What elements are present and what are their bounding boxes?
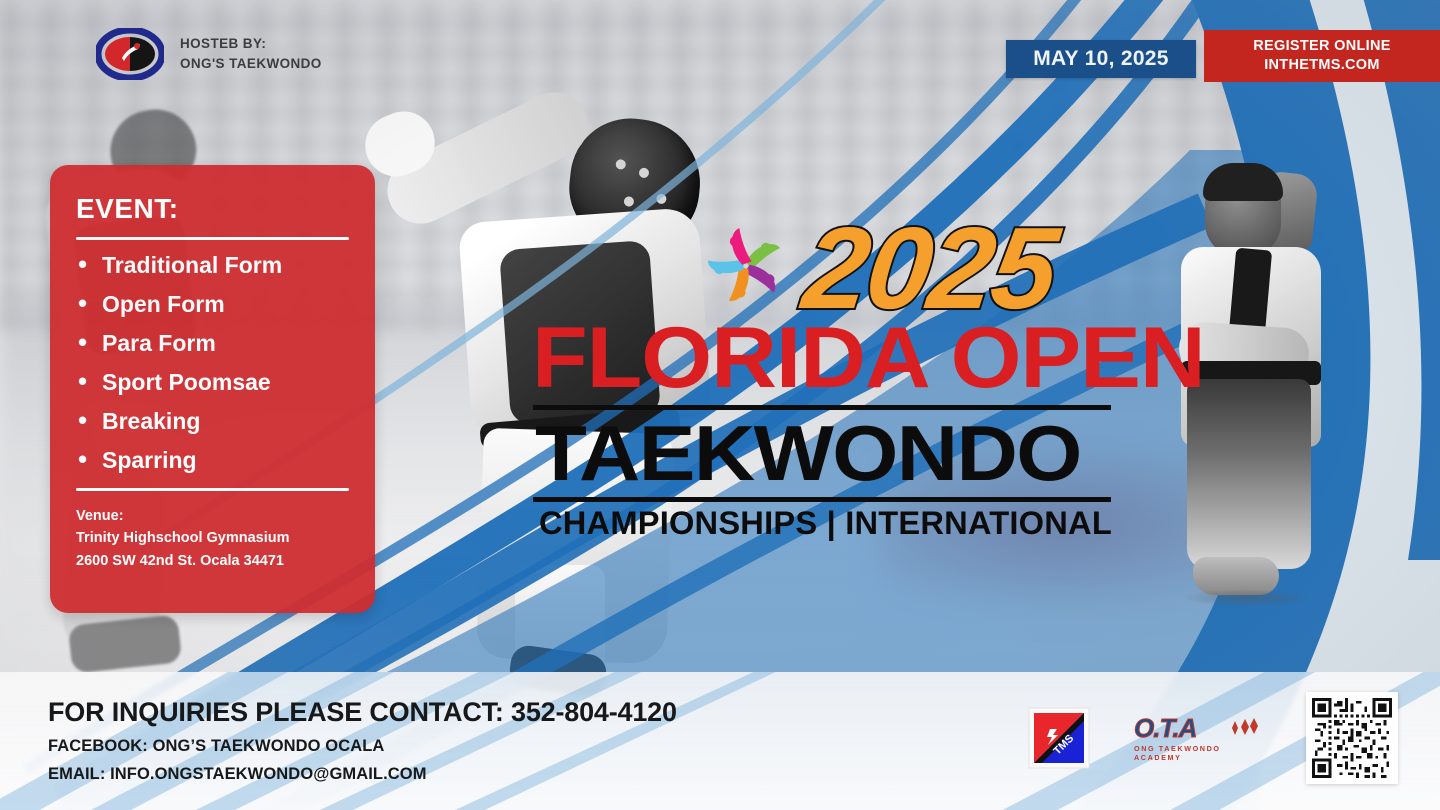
title-line-taekwondo: TAEKWONDO xyxy=(535,411,1081,495)
register-online-badge[interactable]: REGISTER ONLINE INTHETMS.COM xyxy=(1204,30,1440,82)
title-line-florida-open: FLORIDA OPEN xyxy=(532,315,1205,401)
list-item: Sport Poomsae xyxy=(76,371,349,394)
contact-phone-line: FOR INQUIRIES PLEASE CONTACT: 352-804-41… xyxy=(48,697,677,728)
venue-block: Venue: Trinity Highschool Gymnasium 2600… xyxy=(76,505,349,572)
register-line-2: INTHETMS.COM xyxy=(1264,56,1380,75)
contact-block: FOR INQUIRIES PLEASE CONTACT: 352-804-41… xyxy=(48,697,677,784)
list-item: Breaking xyxy=(76,410,349,433)
list-item: Open Form xyxy=(76,293,349,316)
title-line-championships: CHAMPIONSHIPS | INTERNATIONAL xyxy=(539,505,1112,542)
event-date-badge: MAY 10, 2025 xyxy=(1006,40,1196,78)
ong-taekwondo-circle-logo-icon xyxy=(96,28,164,80)
list-item: Para Form xyxy=(76,332,349,355)
ota-logo: O.T.A ONG TAEKWONDO ACADEMY xyxy=(1134,715,1262,761)
host-name: ONG'S TAEKWONDO xyxy=(180,54,322,74)
footer-logos: TMS O.T.A ONG TAEKWONDO ACADEMY xyxy=(1028,692,1398,784)
tms-logo-icon: TMS xyxy=(1028,707,1090,769)
venue-name: Trinity Highschool Gymnasium xyxy=(76,527,349,549)
contact-facebook-line: FACEBOOK: ONG’S TAEKWONDO OCALA xyxy=(48,737,677,756)
event-poster: HOSTEB BY: ONG'S TAEKWONDO MAY 10, 2025 … xyxy=(0,0,1440,810)
venue-label: Venue: xyxy=(76,505,349,527)
host-text: HOSTEB BY: ONG'S TAEKWONDO xyxy=(180,34,322,73)
event-card-title: EVENT: xyxy=(76,193,349,225)
list-item: Traditional Form xyxy=(76,254,349,277)
ota-logo-subtitle: ONG TAEKWONDO ACADEMY xyxy=(1134,744,1262,762)
event-card-divider-bottom xyxy=(76,488,349,491)
list-item: Sparring xyxy=(76,449,349,472)
multicolor-pinwheel-logo-icon xyxy=(705,225,787,307)
event-list: Traditional Form Open Form Para Form Spo… xyxy=(76,254,349,472)
event-list-card: EVENT: Traditional Form Open Form Para F… xyxy=(50,165,375,613)
contact-email-line: EMAIL: INFO.ONGSTAEKWONDO@GMAIL.COM xyxy=(48,765,677,784)
venue-address: 2600 SW 42nd St. Ocala 34471 xyxy=(76,550,349,572)
host-block: HOSTEB BY: ONG'S TAEKWONDO xyxy=(96,28,322,80)
register-line-1: REGISTER ONLINE xyxy=(1253,37,1390,56)
event-card-divider-top xyxy=(76,237,349,240)
qr-code-icon[interactable] xyxy=(1306,692,1398,784)
title-rule-bottom xyxy=(533,497,1111,502)
year-heading: 2025 xyxy=(798,210,1062,326)
host-label: HOSTEB BY: xyxy=(180,34,322,54)
